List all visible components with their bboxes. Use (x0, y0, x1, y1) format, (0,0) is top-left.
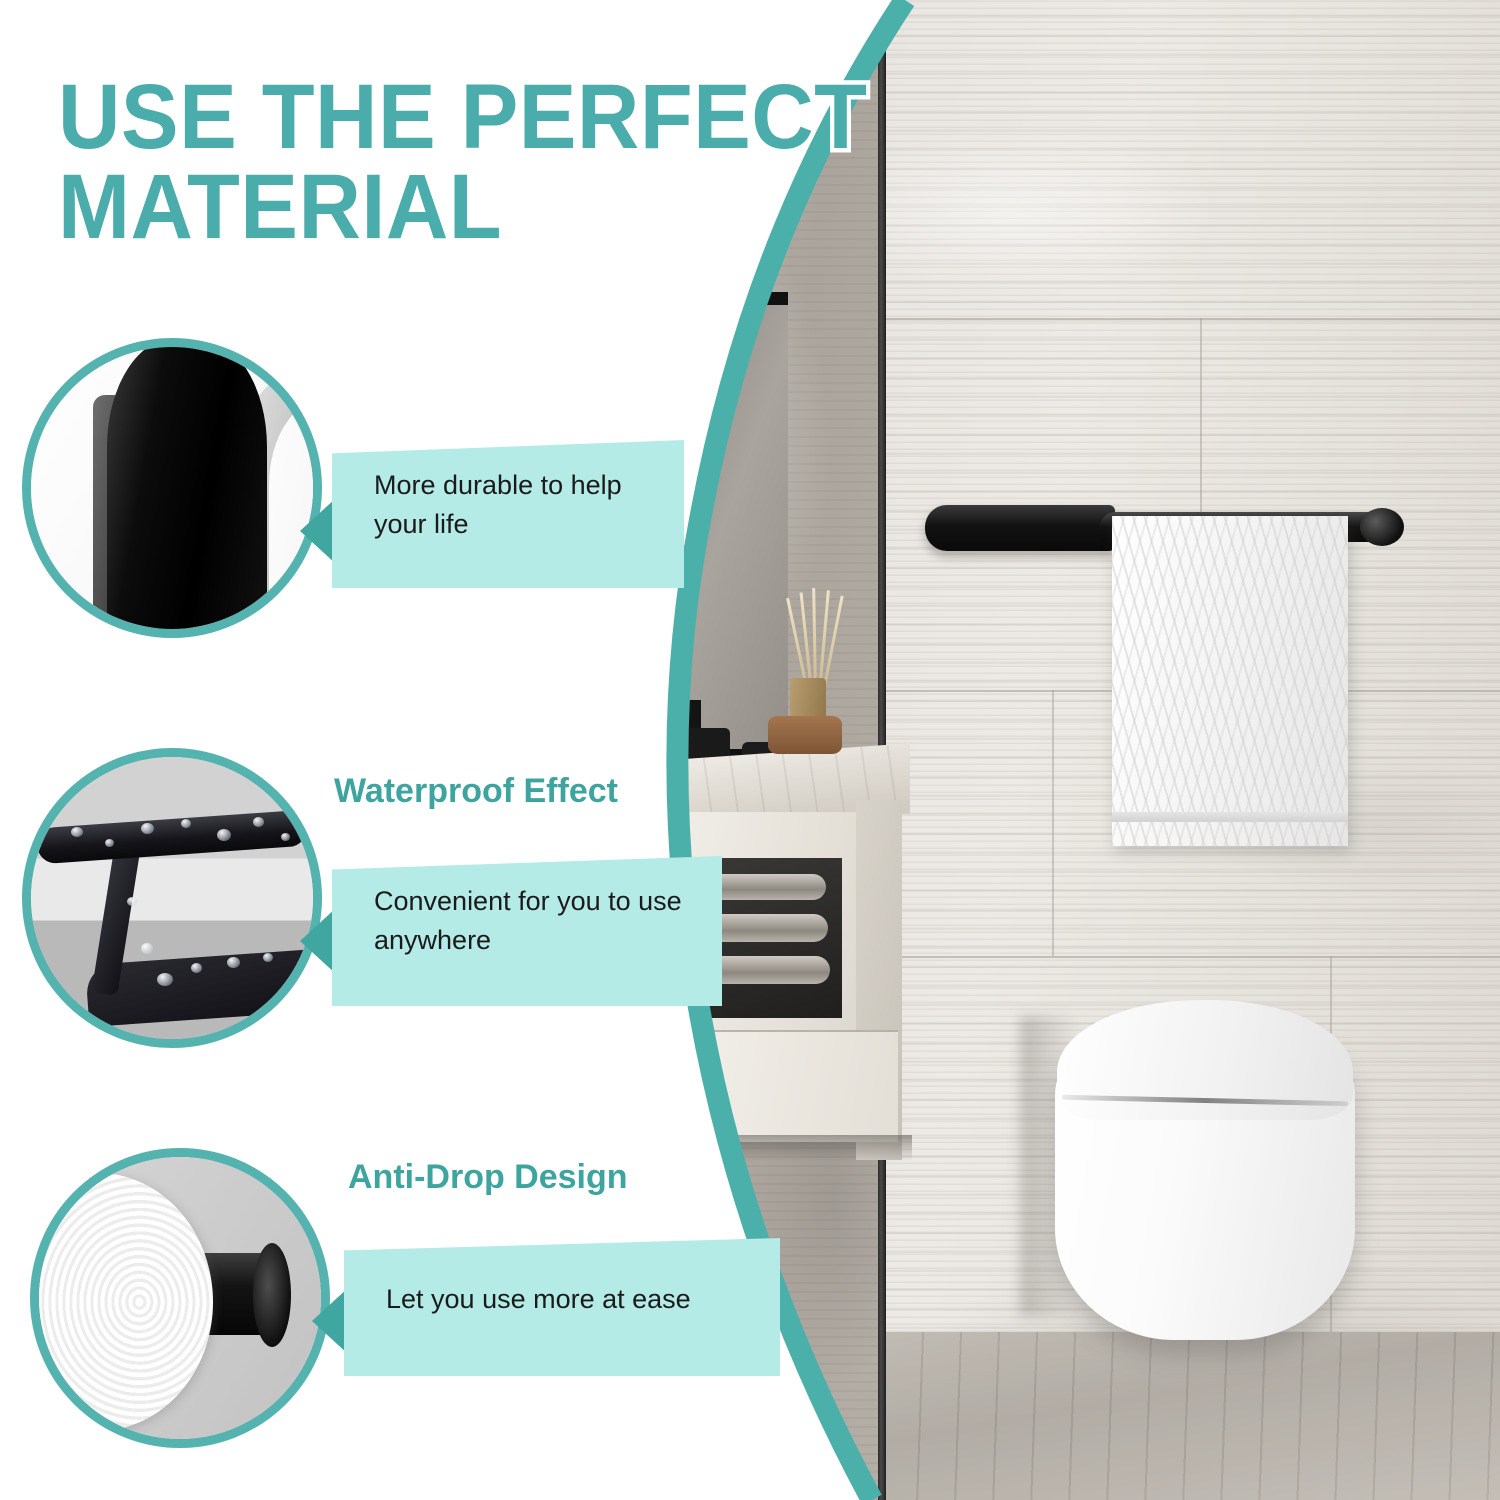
callout-body-text: Let you use more at ease (386, 1264, 750, 1319)
water-droplet (157, 973, 173, 986)
callout-arrow-icon (300, 908, 336, 974)
callout-title-anti-drop: Anti-Drop Design (348, 1158, 628, 1197)
vanity-shadow (660, 1135, 912, 1161)
material-layer-black (107, 338, 267, 638)
water-droplet (71, 827, 83, 837)
callout-arrow-icon (312, 1288, 348, 1354)
headline-line-2: MATERIAL (58, 162, 998, 252)
callout-body-text: More durable to help your life (374, 466, 654, 545)
water-droplet (127, 897, 137, 906)
towel-hem (1112, 812, 1348, 822)
black-mirror-frame (672, 292, 788, 762)
callout-body-text: Convenient for you to use anywhere (374, 882, 692, 961)
water-droplet (105, 839, 114, 847)
water-droplet (141, 823, 154, 834)
headline-line-1: USE THE PERFECT (58, 66, 867, 168)
water-droplet (191, 963, 202, 973)
feature-image-durable (22, 338, 322, 638)
page-title: USE THE PERFECT MATERIAL (58, 72, 998, 252)
vanity-drawer (660, 1030, 898, 1142)
white-hanging-towel (1112, 516, 1348, 846)
callout-box: Let you use more at ease (344, 1238, 780, 1376)
callout-title-waterproof: Waterproof Effect (334, 772, 618, 811)
infographic-canvas: USE THE PERFECT MATERIAL (0, 0, 1500, 1500)
water-droplet (281, 833, 290, 841)
water-droplet (141, 943, 153, 954)
feature-image-waterproof (22, 748, 322, 1048)
grout-line (886, 318, 1500, 320)
knob-end-cap (253, 1243, 291, 1347)
water-droplet (227, 957, 240, 968)
grout-line (886, 956, 1500, 958)
diffuser-tray (768, 716, 842, 754)
black-towel-bar-plate (925, 505, 1115, 551)
towel-bar-end-cap (1360, 508, 1404, 546)
water-droplet (263, 953, 273, 962)
grout-line (1052, 690, 1054, 956)
feature-image-anti-drop (30, 1148, 330, 1448)
water-droplet (253, 817, 264, 827)
water-droplet (217, 829, 231, 841)
callout-box: More durable to help your life (332, 440, 684, 588)
callout-box: Convenient for you to use anywhere (332, 856, 722, 1006)
bathroom-floor (886, 1332, 1500, 1500)
water-droplet (181, 819, 191, 828)
callout-arrow-icon (300, 498, 336, 564)
